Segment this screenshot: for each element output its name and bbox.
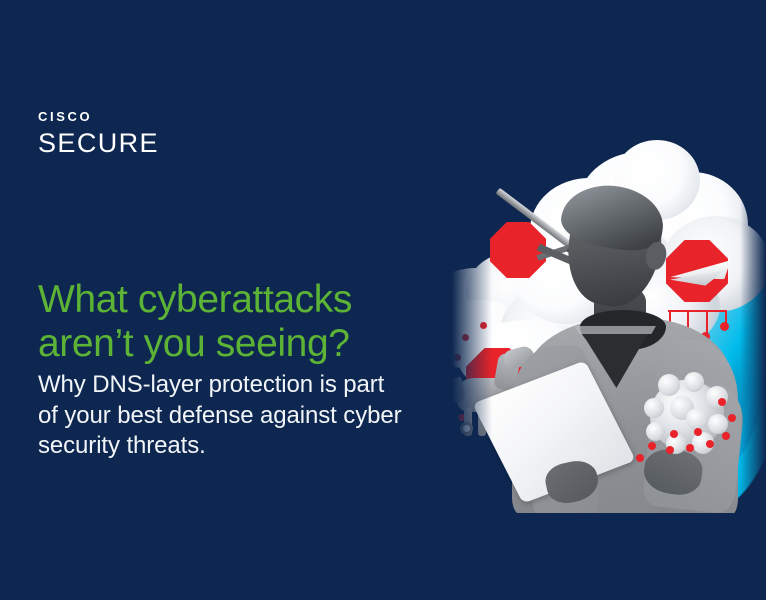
page-title: What cyberattacks aren’t you seeing? xyxy=(38,278,458,365)
red-dot-cluster-icon xyxy=(666,446,674,454)
red-dot-cluster-icon xyxy=(670,430,678,438)
logo-brand-text: CISCO xyxy=(38,110,159,123)
red-dot-cluster-icon xyxy=(686,444,694,452)
red-dot-cluster-icon xyxy=(694,428,702,436)
red-dot-cluster-icon xyxy=(706,440,714,448)
collage-top-mask xyxy=(418,0,766,132)
red-dot-cluster-icon xyxy=(648,442,656,450)
subhead-line-2: of your best defense against cyber xyxy=(38,401,453,432)
red-dot-cluster-icon xyxy=(722,432,730,440)
headline-line-2: aren’t you seeing? xyxy=(38,322,458,366)
page-subtitle: Why DNS-layer protection is part of your… xyxy=(38,370,453,462)
virus-icon xyxy=(650,380,724,450)
virus-bump xyxy=(708,414,728,434)
hero-collage-artwork xyxy=(418,0,766,600)
virus-bump xyxy=(646,422,665,441)
red-dot-cluster-icon xyxy=(718,398,726,406)
virus-bump xyxy=(686,408,708,430)
red-dot-cluster-icon xyxy=(636,454,644,462)
subhead-line-1: Why DNS-layer protection is part xyxy=(38,370,453,401)
cisco-secure-logo[interactable]: CISCO SECURE xyxy=(38,110,159,157)
collage-bottom-mask xyxy=(418,513,766,600)
headline-line-1: What cyberattacks xyxy=(38,278,458,322)
virus-bump xyxy=(658,374,680,396)
man-with-tablet-photo xyxy=(506,170,736,515)
logo-product-text: SECURE xyxy=(38,130,159,157)
red-dot-cluster-icon xyxy=(728,414,736,422)
virus-bump xyxy=(644,398,664,418)
hero-banner: CISCO SECURE What cyberattacks aren’t yo… xyxy=(0,0,766,600)
subhead-line-3: security threats. xyxy=(38,431,453,462)
virus-bump xyxy=(684,372,704,392)
